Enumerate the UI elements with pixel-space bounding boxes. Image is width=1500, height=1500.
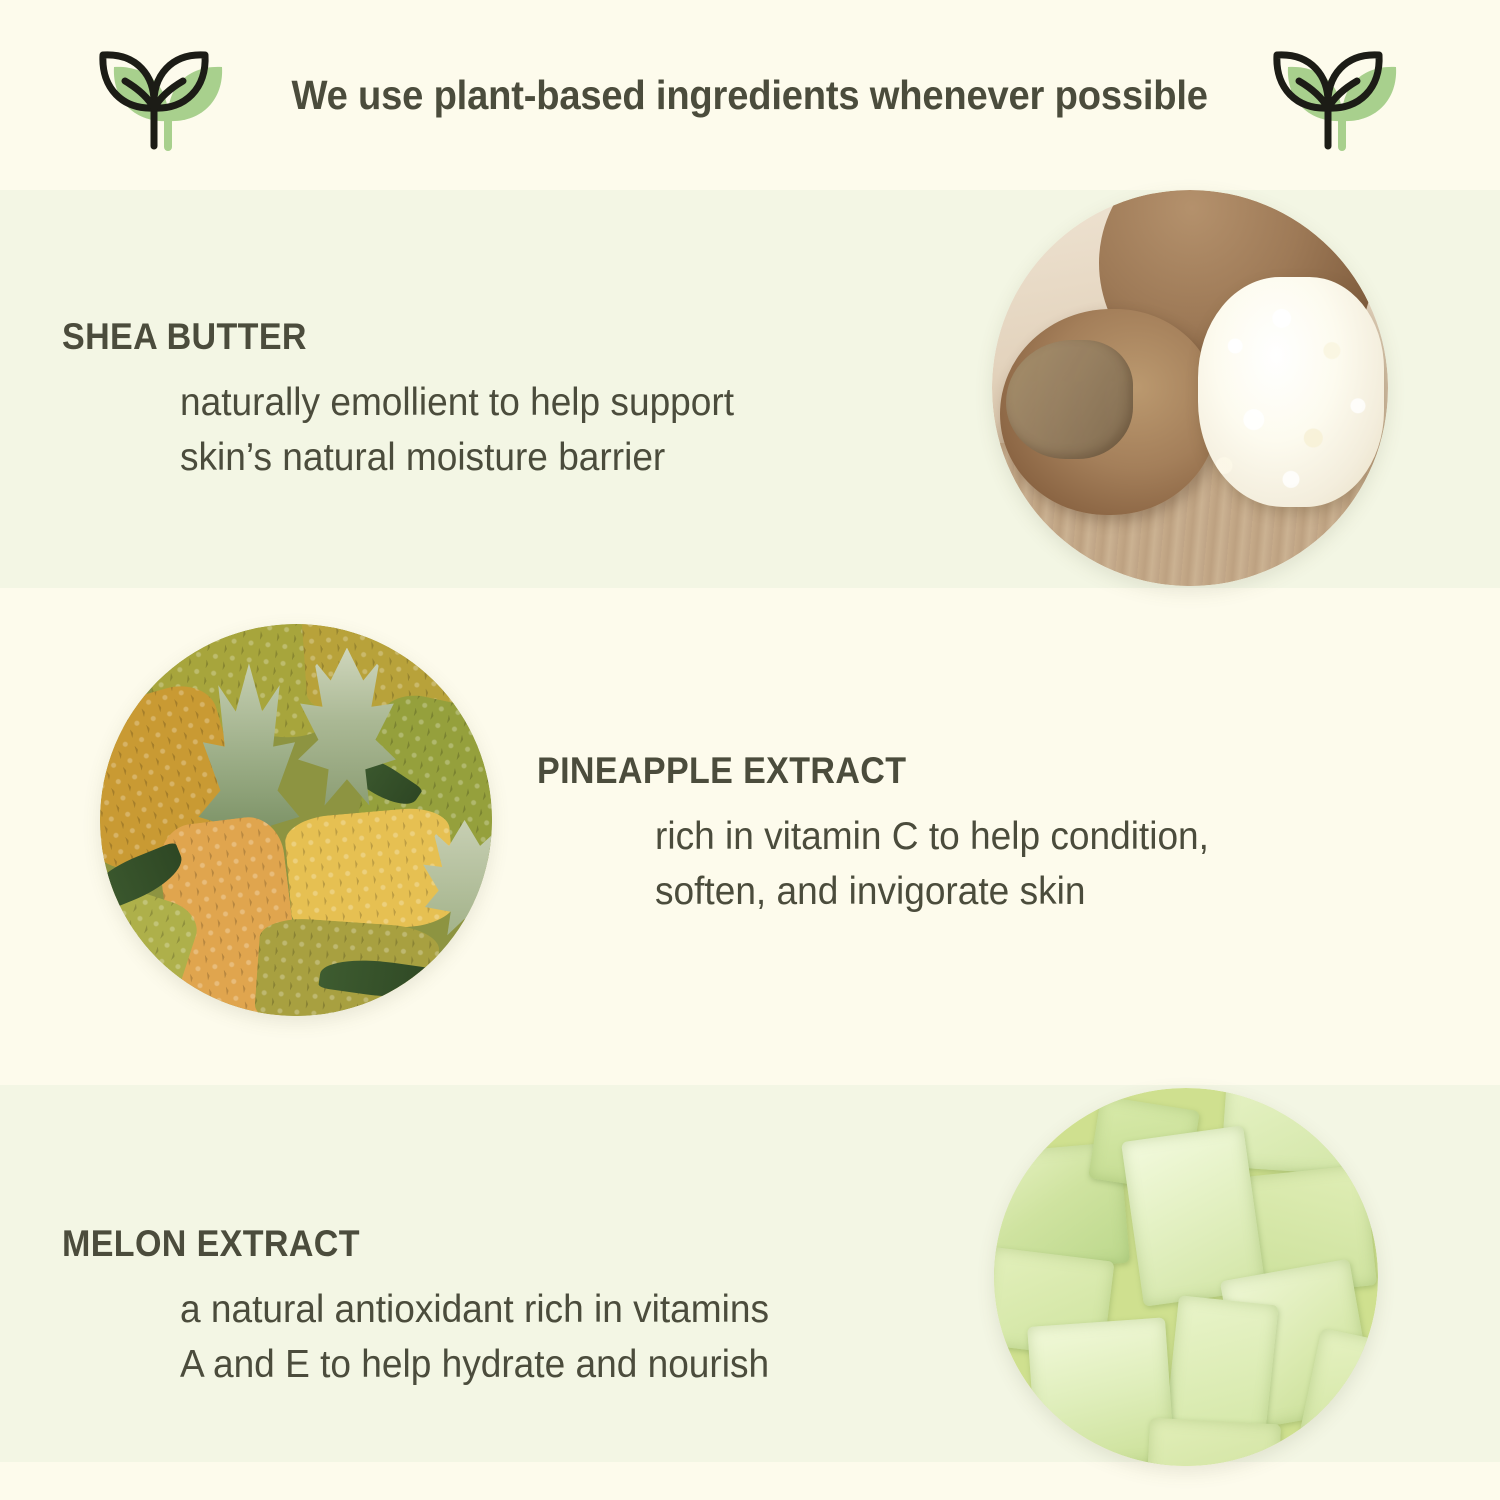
leaf-sprout-icon — [1273, 36, 1401, 154]
ingredient-photo-shea-butter — [992, 190, 1388, 586]
infographic-page: We use plant-based ingredients whenever … — [0, 0, 1500, 1500]
leaf-sprout-icon — [99, 36, 227, 154]
ingredient-description-line: rich in vitamin C to help condition, — [655, 809, 1209, 864]
ingredient-name: MELON EXTRACT — [62, 1225, 741, 1264]
ingredient-description-line: soften, and invigorate skin — [655, 864, 1209, 919]
ingredient-description-line: skin’s natural moisture barrier — [180, 430, 734, 485]
ingredient-text-pineapple-extract: PINEAPPLE EXTRACT rich in vitamin C to h… — [537, 752, 1238, 920]
ingredient-description-line: a natural antioxidant rich in vitamins — [180, 1282, 769, 1337]
ingredient-name: SHEA BUTTER — [62, 318, 707, 357]
ingredient-name: PINEAPPLE EXTRACT — [537, 752, 1182, 791]
ingredient-photo-melon-extract — [994, 1088, 1378, 1466]
ingredient-description-line: A and E to help hydrate and nourish — [180, 1337, 769, 1392]
ingredient-text-melon-extract: MELON EXTRACT a natural antioxidant rich… — [62, 1225, 800, 1393]
ingredient-photo-pineapple-extract — [100, 624, 492, 1016]
footer-band — [0, 1462, 1500, 1500]
page-title: We use plant-based ingredients whenever … — [292, 72, 1208, 119]
header: We use plant-based ingredients whenever … — [0, 0, 1500, 190]
ingredient-description-line: naturally emollient to help support — [180, 375, 734, 430]
ingredient-text-shea-butter: SHEA BUTTER naturally emollient to help … — [62, 318, 763, 486]
